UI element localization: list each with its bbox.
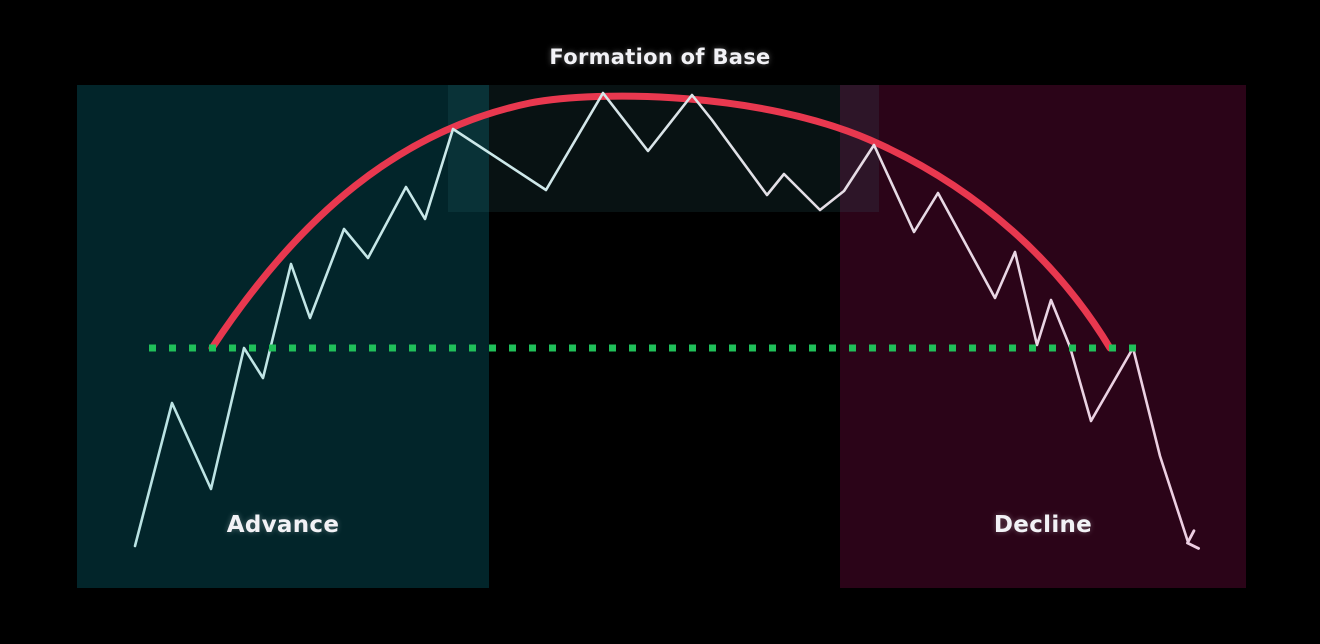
decline-phase-label: Decline xyxy=(840,512,1246,538)
page-title: Formation of Base xyxy=(0,45,1320,69)
price-chart-svg xyxy=(0,0,1320,644)
advance-phase-label: Advance xyxy=(77,512,489,538)
price-action-line xyxy=(135,93,1188,546)
chart-canvas: Formation of Base Advance Decline xyxy=(0,0,1320,644)
